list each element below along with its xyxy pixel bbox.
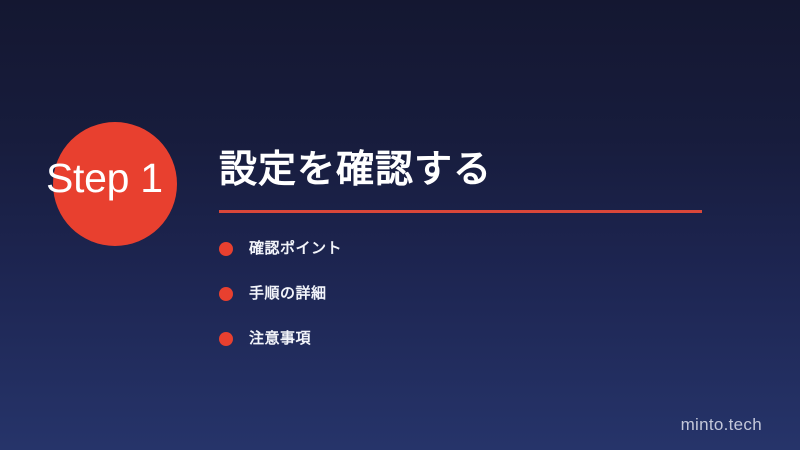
list-item-label: 注意事項: [249, 329, 311, 349]
slide-title: 設定を確認する: [219, 144, 719, 196]
dot-icon: [219, 287, 233, 301]
slide-content: 設定を確認する 確認ポイント 手順の詳細 注意事項: [219, 144, 719, 370]
list-item-label: 手順の詳細: [249, 284, 327, 304]
dot-icon: [219, 332, 233, 346]
dot-icon: [219, 242, 233, 256]
title-underline-rule: [219, 210, 702, 213]
step-badge: Step 1: [46, 120, 206, 235]
list-item: 確認ポイント: [219, 235, 719, 263]
bullet-list: 確認ポイント 手順の詳細 注意事項: [219, 235, 719, 353]
slide-canvas: Step 1 設定を確認する 確認ポイント 手順の詳細 注意事項 minto.t…: [0, 0, 800, 450]
list-item-label: 確認ポイント: [249, 239, 342, 259]
list-item: 注意事項: [219, 325, 719, 353]
list-item: 手順の詳細: [219, 280, 719, 308]
footer-brand: minto.tech: [681, 414, 762, 436]
step-badge-label: Step 1: [46, 154, 206, 202]
